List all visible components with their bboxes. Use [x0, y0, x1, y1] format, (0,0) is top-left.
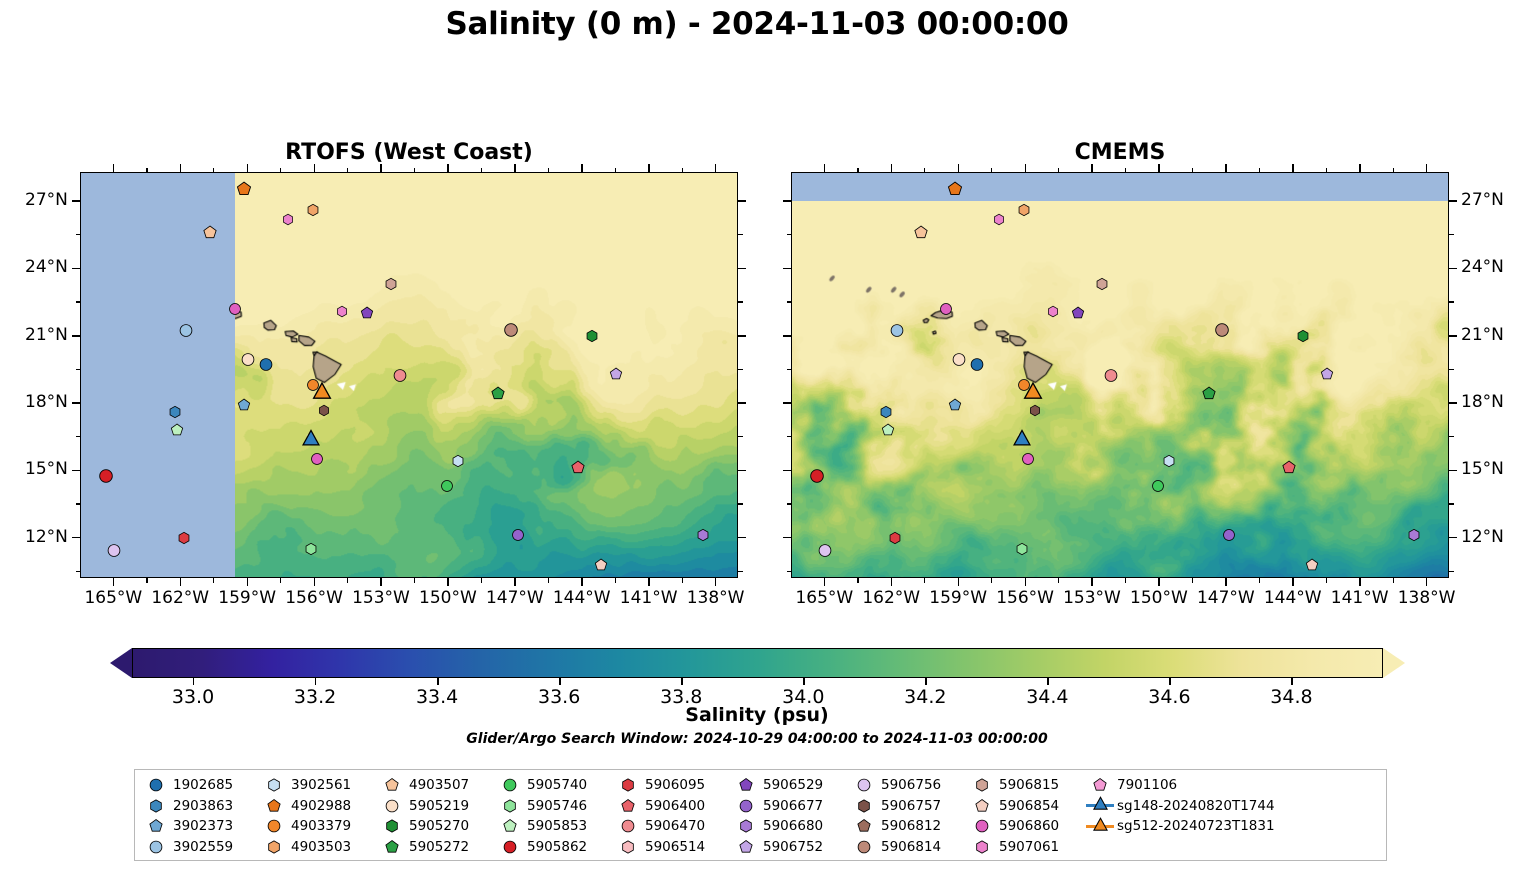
- legend-item[interactable]: 5906470: [613, 816, 731, 837]
- lon-tick-minor: [146, 578, 147, 583]
- lon-tick-label: 138°W: [1398, 588, 1456, 608]
- lon-tick-major: [958, 578, 960, 586]
- float-marker[interactable]: [237, 397, 250, 416]
- lon-tick-major: [648, 578, 650, 586]
- lon-tick-minor: [1125, 578, 1126, 583]
- float-marker[interactable]: [512, 527, 525, 546]
- lat-tick-label: 21°N: [25, 325, 68, 345]
- lat-tick-minor-right: [738, 234, 743, 235]
- legend-marker-icon: [1085, 778, 1115, 792]
- legend-column: 3902561490298849033794903503: [259, 775, 377, 857]
- float-marker[interactable]: [491, 386, 505, 405]
- colorbar-tick: [437, 678, 438, 685]
- lat-tick-label: 21°N: [1461, 325, 1504, 345]
- lat-tick-minor: [787, 234, 792, 235]
- float-marker[interactable]: [1162, 453, 1175, 472]
- lon-tick-major: [581, 578, 583, 586]
- lat-tick-major-right: [738, 537, 746, 539]
- lon-tick-minor-top: [1125, 168, 1126, 173]
- float-marker[interactable]: [306, 377, 319, 396]
- legend-item[interactable]: 3902373: [141, 816, 259, 837]
- lon-tick-label: 144°W: [553, 588, 611, 608]
- legend-item[interactable]: 5905740: [495, 775, 613, 796]
- legend-marker-icon: [259, 819, 289, 833]
- lon-tick-minor: [1192, 578, 1193, 583]
- float-marker[interactable]: [107, 543, 121, 562]
- lon-tick-major-top: [958, 164, 960, 172]
- legend-item[interactable]: 5906680: [731, 816, 849, 837]
- lon-tick-minor-top: [548, 168, 549, 173]
- float-marker[interactable]: [504, 323, 519, 342]
- legend-item[interactable]: 5905853: [495, 816, 613, 837]
- lat-tick-minor-right: [738, 301, 743, 302]
- legend-marker-icon: [731, 799, 761, 813]
- lat-tick-minor: [787, 503, 792, 504]
- legend-marker-icon: [141, 799, 171, 813]
- legend-item[interactable]: 5906677: [731, 796, 849, 817]
- lon-tick-minor-top: [991, 168, 992, 173]
- legend-item[interactable]: 5906514: [613, 837, 731, 858]
- legend-item-label: 5905272: [407, 839, 469, 855]
- legend-marker-icon: [967, 819, 997, 833]
- legend-item-label: 5906529: [761, 777, 823, 793]
- lon-tick-minor: [991, 578, 992, 583]
- colorbar-tick: [193, 678, 194, 685]
- legend-marker-icon: [377, 799, 407, 813]
- float-marker[interactable]: [1013, 429, 1031, 451]
- lat-tick-label: 12°N: [1461, 527, 1504, 547]
- lon-tick-major-top: [1091, 164, 1093, 172]
- lat-tick-major-right: [738, 335, 746, 337]
- lon-tick-label: 162°W: [862, 588, 920, 608]
- float-marker[interactable]: [888, 529, 901, 548]
- float-marker[interactable]: [318, 401, 330, 420]
- lat-tick-label: 24°N: [25, 257, 68, 277]
- lon-tick-major-top: [1025, 164, 1027, 172]
- legend-item-label: 1902685: [171, 777, 233, 793]
- lat-tick-minor-right: [1449, 234, 1454, 235]
- float-marker[interactable]: [585, 327, 598, 346]
- lat-tick-minor-right: [1449, 503, 1454, 504]
- legend-item-label: 5906677: [761, 798, 823, 814]
- lat-tick-minor: [76, 503, 81, 504]
- legend-item[interactable]: sg512-20240723T1831: [1085, 816, 1285, 837]
- legend-column: 5906529590667759066805906752: [731, 775, 849, 857]
- lat-tick-major: [783, 200, 791, 202]
- legend-item[interactable]: 5905746: [495, 796, 613, 817]
- float-marker[interactable]: [98, 469, 113, 488]
- lon-tick-minor: [213, 578, 214, 583]
- legend-marker-icon: [613, 799, 643, 813]
- float-marker[interactable]: [311, 451, 324, 470]
- lat-tick-label: 18°N: [25, 392, 68, 412]
- lon-tick-label: 153°W: [1063, 588, 1121, 608]
- float-marker[interactable]: [697, 527, 710, 546]
- legend-item[interactable]: 4903379: [259, 816, 377, 837]
- lat-tick-major: [72, 402, 80, 404]
- legend-column: 5906095590640059064705906514: [613, 775, 731, 857]
- legend-item-label: 4903507: [407, 777, 469, 793]
- lat-tick-major: [783, 402, 791, 404]
- lon-tick-minor-top: [347, 168, 348, 173]
- lon-tick-major-top: [1426, 164, 1428, 172]
- float-marker[interactable]: [1071, 305, 1084, 324]
- legend-item-label: 4903503: [289, 839, 351, 855]
- colorbar-tick: [315, 678, 316, 685]
- lat-tick-minor: [76, 369, 81, 370]
- lon-tick-label: 159°W: [929, 588, 987, 608]
- page-title: Salinity (0 m) - 2024-11-03 00:00:00: [0, 6, 1514, 42]
- lon-tick-major-top: [1292, 164, 1294, 172]
- lon-tick-major: [715, 578, 717, 586]
- legend-item[interactable]: 4902988: [259, 796, 377, 817]
- lon-tick-minor-top: [1192, 168, 1193, 173]
- float-marker[interactable]: [1408, 527, 1421, 546]
- float-marker[interactable]: [168, 404, 181, 423]
- float-marker[interactable]: [818, 543, 832, 562]
- legend-marker-icon: [495, 840, 525, 854]
- float-marker[interactable]: [1047, 303, 1059, 322]
- legend-item-label: 5907061: [997, 839, 1059, 855]
- colorbar: 33.033.233.433.633.834.034.234.434.634.8: [110, 648, 1405, 678]
- legend-item-label: 5906814: [879, 839, 941, 855]
- float-marker[interactable]: [304, 540, 317, 559]
- legend-item-label: 3902561: [289, 777, 351, 793]
- lon-tick-minor-top: [857, 168, 858, 173]
- float-marker[interactable]: [236, 181, 251, 200]
- float-marker[interactable]: [993, 211, 1005, 230]
- float-marker[interactable]: [385, 276, 398, 295]
- float-marker[interactable]: [282, 211, 294, 230]
- legend-item[interactable]: sg148-20240820T1744: [1085, 796, 1285, 817]
- float-marker[interactable]: [302, 429, 320, 451]
- lon-tick-minor: [1326, 578, 1327, 583]
- lon-tick-major: [180, 578, 182, 586]
- float-marker[interactable]: [179, 323, 193, 342]
- legend-column: 5906815590685459068605907061: [967, 775, 1085, 857]
- lon-tick-minor-top: [213, 168, 214, 173]
- legend-marker-icon: [613, 840, 643, 854]
- lon-tick-major: [1359, 578, 1361, 586]
- float-marker[interactable]: [1321, 365, 1334, 384]
- legend-item-label: 5906514: [643, 839, 705, 855]
- lon-tick-major-top: [180, 164, 182, 172]
- lon-tick-major-top: [314, 164, 316, 172]
- float-marker[interactable]: [360, 305, 373, 324]
- lon-tick-major-top: [581, 164, 583, 172]
- lon-tick-major: [447, 578, 449, 586]
- lat-tick-major: [72, 268, 80, 270]
- float-marker[interactable]: [881, 421, 894, 440]
- lon-tick-minor: [924, 578, 925, 583]
- lon-tick-label: 159°W: [218, 588, 276, 608]
- colorbar-label: Salinity (psu): [0, 704, 1514, 726]
- lat-tick-major-right: [1449, 470, 1457, 472]
- lon-tick-major: [1091, 578, 1093, 586]
- lon-tick-minor: [280, 578, 281, 583]
- colorbar-tick: [681, 678, 682, 685]
- legend-item-label: 5906757: [879, 798, 941, 814]
- lon-tick-label: 156°W: [996, 588, 1054, 608]
- lon-tick-minor-top: [414, 168, 415, 173]
- legend-item[interactable]: 3902561: [259, 775, 377, 796]
- lat-tick-label: 27°N: [1461, 190, 1504, 210]
- lat-tick-minor-right: [738, 369, 743, 370]
- legend-marker-icon: [377, 840, 407, 854]
- legend-item[interactable]: 5906529: [731, 775, 849, 796]
- legend-item-label: sg148-20240820T1744: [1115, 798, 1275, 814]
- lon-tick-major-top: [1359, 164, 1361, 172]
- legend-item-label: 5906680: [761, 818, 823, 834]
- legend-item-label: 5905853: [525, 818, 587, 834]
- lat-tick-major-right: [1449, 335, 1457, 337]
- legend-item[interactable]: 7901106: [1085, 775, 1285, 796]
- lon-tick-major: [891, 578, 893, 586]
- lon-tick-major: [514, 578, 516, 586]
- panel-title-rtofs: RTOFS (West Coast): [80, 140, 738, 165]
- lon-tick-minor-top: [1326, 168, 1327, 173]
- colorbar-tick: [1291, 678, 1292, 685]
- lon-tick-label: 141°W: [1331, 588, 1389, 608]
- float-marker[interactable]: [948, 397, 961, 416]
- float-marker[interactable]: [571, 460, 585, 479]
- float-marker[interactable]: [336, 303, 348, 322]
- legend-column: 1902685290386339023733902559: [141, 775, 259, 857]
- legend-item[interactable]: 5905272: [377, 837, 495, 858]
- legend-marker-icon: [849, 819, 879, 833]
- legend-marker-icon: [849, 840, 879, 854]
- legend-item[interactable]: 5906756: [849, 775, 967, 796]
- legend-item-label: 5906860: [997, 818, 1059, 834]
- float-marker[interactable]: [1223, 527, 1236, 546]
- legend-item[interactable]: 5905270: [377, 816, 495, 837]
- lon-tick-major: [1426, 578, 1428, 586]
- legend-item[interactable]: 2903863: [141, 796, 259, 817]
- legend-marker-icon: [731, 840, 761, 854]
- float-marker[interactable]: [259, 356, 273, 375]
- lon-tick-label: 144°W: [1264, 588, 1322, 608]
- legend-item-label: 5906815: [997, 777, 1059, 793]
- legend-item[interactable]: 5906095: [613, 775, 731, 796]
- legend-marker-icon: [849, 778, 879, 792]
- float-marker[interactable]: [393, 368, 407, 387]
- lon-tick-minor-top: [682, 168, 683, 173]
- float-marker[interactable]: [1029, 401, 1041, 420]
- lat-tick-label: 27°N: [25, 190, 68, 210]
- legend-marker-icon: [967, 778, 997, 792]
- legend-grid: 1902685290386339023733902559390256149029…: [141, 775, 1285, 857]
- legend-item[interactable]: 5907061: [967, 837, 1085, 858]
- lat-tick-minor-right: [738, 436, 743, 437]
- lon-tick-major-top: [380, 164, 382, 172]
- legend-item-label: 4902988: [289, 798, 351, 814]
- lon-tick-label: 147°W: [486, 588, 544, 608]
- legend-marker-icon: [967, 840, 997, 854]
- lat-tick-minor-right: [1449, 301, 1454, 302]
- lat-tick-major: [72, 470, 80, 472]
- lon-tick-label: 156°W: [285, 588, 343, 608]
- lon-tick-major: [1025, 578, 1027, 586]
- lon-tick-major-top: [514, 164, 516, 172]
- lat-tick-major-right: [738, 200, 746, 202]
- lon-tick-label: 141°W: [620, 588, 678, 608]
- lon-tick-minor: [1259, 578, 1260, 583]
- lon-tick-label: 147°W: [1197, 588, 1255, 608]
- lon-tick-label: 138°W: [687, 588, 745, 608]
- lat-tick-major-right: [1449, 402, 1457, 404]
- legend-column: 5906756590675759068125906814: [849, 775, 967, 857]
- float-marker[interactable]: [177, 529, 190, 548]
- lat-tick-major: [72, 200, 80, 202]
- lat-tick-minor: [76, 301, 81, 302]
- lat-tick-minor: [787, 436, 792, 437]
- legend-item[interactable]: 5906757: [849, 796, 967, 817]
- legend-item-label: 5906756: [879, 777, 941, 793]
- lon-tick-label: 153°W: [352, 588, 410, 608]
- float-marker[interactable]: [947, 181, 962, 200]
- float-marker[interactable]: [879, 404, 892, 423]
- lon-tick-major: [380, 578, 382, 586]
- legend-item-label: 2903863: [171, 798, 233, 814]
- float-marker[interactable]: [1096, 276, 1109, 295]
- lon-tick-minor-top: [481, 168, 482, 173]
- float-marker[interactable]: [939, 300, 952, 319]
- lon-tick-major-top: [1225, 164, 1227, 172]
- lon-tick-major: [1292, 578, 1294, 586]
- legend-item[interactable]: 5906860: [967, 816, 1085, 837]
- lat-tick-minor: [76, 436, 81, 437]
- lat-tick-label: 24°N: [1461, 257, 1504, 277]
- lon-tick-major-top: [113, 164, 115, 172]
- legend-marker-icon: [495, 778, 525, 792]
- map-panel-cmems[interactable]: [791, 172, 1449, 578]
- map-panel-rtofs[interactable]: [80, 172, 738, 578]
- float-marker[interactable]: [1282, 460, 1296, 479]
- legend-marker-icon: [1085, 825, 1115, 828]
- lon-tick-label: 150°W: [1130, 588, 1188, 608]
- colorbar-tick: [559, 678, 560, 685]
- legend-item[interactable]: 5906815: [967, 775, 1085, 796]
- float-marker[interactable]: [1296, 327, 1309, 346]
- lon-tick-minor: [347, 578, 348, 583]
- lon-tick-major: [314, 578, 316, 586]
- lat-tick-major-right: [738, 268, 746, 270]
- legend-marker-icon: [1085, 804, 1115, 807]
- legend-item[interactable]: 5905862: [495, 837, 613, 858]
- lon-tick-minor: [615, 578, 616, 583]
- float-marker[interactable]: [1151, 478, 1164, 497]
- float-marker[interactable]: [890, 323, 904, 342]
- float-marker[interactable]: [594, 556, 607, 575]
- lat-tick-minor: [76, 234, 81, 235]
- legend-marker-icon: [141, 840, 171, 854]
- legend-marker-icon: [849, 799, 879, 813]
- lon-tick-major-top: [715, 164, 717, 172]
- lon-tick-minor-top: [924, 168, 925, 173]
- legend-column: 4903507590521959052705905272: [377, 775, 495, 857]
- float-marker[interactable]: [170, 421, 183, 440]
- float-marker[interactable]: [809, 469, 824, 488]
- colorbar-extend-max: [1383, 648, 1405, 678]
- lon-tick-minor: [857, 578, 858, 583]
- legend-item-label: 5905219: [407, 798, 469, 814]
- lon-tick-minor: [1058, 578, 1059, 583]
- float-marker[interactable]: [1202, 386, 1216, 405]
- float-marker[interactable]: [241, 352, 255, 371]
- lon-tick-major-top: [824, 164, 826, 172]
- legend-item-label: 5905746: [525, 798, 587, 814]
- lon-tick-minor-top: [615, 168, 616, 173]
- float-marker[interactable]: [1215, 323, 1230, 342]
- legend-item-label: 5905740: [525, 777, 587, 793]
- lon-tick-minor: [682, 578, 683, 583]
- legend-item-label: 5906095: [643, 777, 705, 793]
- legend-item[interactable]: 5906812: [849, 816, 967, 837]
- float-marker[interactable]: [970, 356, 984, 375]
- legend-item[interactable]: 5906854: [967, 796, 1085, 817]
- search-window-note: Glider/Argo Search Window: 2024-10-29 04…: [0, 731, 1514, 747]
- lat-tick-minor-right: [1449, 436, 1454, 437]
- legend-item[interactable]: 3902559: [141, 837, 259, 858]
- float-marker[interactable]: [952, 352, 966, 371]
- float-marker[interactable]: [914, 224, 928, 243]
- legend-item[interactable]: 4903503: [259, 837, 377, 858]
- legend-item[interactable]: 5906400: [613, 796, 731, 817]
- colorbar-tick: [1047, 678, 1048, 685]
- legend-item[interactable]: 5906752: [731, 837, 849, 858]
- legend-item-label: 3902373: [171, 818, 233, 834]
- lon-tick-label: 165°W: [84, 588, 142, 608]
- lat-tick-major: [783, 537, 791, 539]
- legend-item-label: 5906400: [643, 798, 705, 814]
- legend-item-label: 5906854: [997, 798, 1059, 814]
- lat-tick-label: 15°N: [1461, 459, 1504, 479]
- legend-item[interactable]: 5906814: [849, 837, 967, 858]
- float-marker[interactable]: [1017, 202, 1030, 221]
- lat-tick-major: [72, 537, 80, 539]
- legend-item-label: sg512-20240723T1831: [1115, 818, 1275, 834]
- legend-item[interactable]: 5905219: [377, 796, 495, 817]
- colorbar-tick: [1169, 678, 1170, 685]
- colorbar-tick: [925, 678, 926, 685]
- float-marker[interactable]: [203, 224, 217, 243]
- float-marker[interactable]: [1104, 368, 1118, 387]
- lon-tick-minor: [548, 578, 549, 583]
- float-marker[interactable]: [610, 365, 623, 384]
- lat-tick-major: [783, 470, 791, 472]
- lat-tick-label: 12°N: [25, 527, 68, 547]
- float-marker[interactable]: [228, 300, 241, 319]
- float-marker[interactable]: [451, 453, 464, 472]
- lon-tick-minor-top: [146, 168, 147, 173]
- float-marker[interactable]: [1022, 451, 1035, 470]
- legend-marker-icon: [377, 778, 407, 792]
- lat-tick-major-right: [1449, 537, 1457, 539]
- float-marker[interactable]: [1017, 377, 1030, 396]
- legend-item[interactable]: 1902685: [141, 775, 259, 796]
- float-marker[interactable]: [440, 478, 453, 497]
- lon-tick-major-top: [447, 164, 449, 172]
- legend-item-label: 5906752: [761, 839, 823, 855]
- no-data-strip: [792, 173, 1448, 201]
- legend-marker-icon: [495, 799, 525, 813]
- legend-marker-icon: [259, 778, 289, 792]
- float-marker[interactable]: [306, 202, 319, 221]
- float-marker[interactable]: [1015, 540, 1028, 559]
- legend-item[interactable]: 4903507: [377, 775, 495, 796]
- lon-tick-minor-top: [1393, 168, 1394, 173]
- float-marker[interactable]: [1305, 556, 1318, 575]
